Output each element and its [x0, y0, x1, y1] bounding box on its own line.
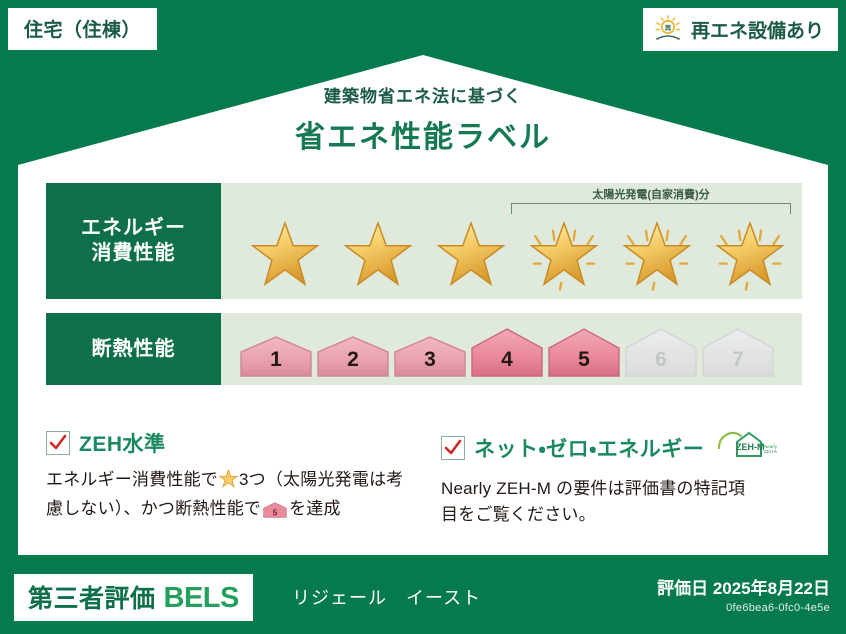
- energy-label-line1: エネルギー: [81, 216, 186, 241]
- insulation-level-number: 7: [701, 348, 775, 372]
- solar-annotation-label: 太陽光発電(自家消費)分: [511, 186, 791, 202]
- insulation-performance-content: 1 2 3: [221, 313, 802, 385]
- insulation-level-number: 5: [547, 348, 621, 372]
- energy-label-line2: 消費性能: [92, 241, 176, 266]
- net-zero-energy-description: Nearly ZEH-M の要件は評価書の特記項 目をご覧ください。: [441, 476, 814, 529]
- insulation-performance-label: 断熱性能: [46, 313, 221, 385]
- insulation-performance-row: 断熱性能: [46, 313, 802, 385]
- bels-english-text: BELS: [164, 582, 239, 615]
- insulation-level-2: 2: [316, 334, 390, 378]
- svg-text:ZEH-M: ZEH-M: [736, 442, 765, 452]
- performance-rows: エネルギー 消費性能 太陽光発電(自家消費)分: [46, 183, 802, 399]
- insulation-label-text: 断熱性能: [92, 337, 176, 362]
- star-rating: [239, 215, 796, 293]
- building-type-label: 住宅（住棟）: [24, 20, 141, 41]
- insulation-level-number: 4: [470, 348, 544, 372]
- bels-japanese-text: 第三者評価: [28, 579, 156, 615]
- inline-star-icon: [219, 469, 238, 496]
- bels-logo: 第三者評価 BELS: [14, 574, 253, 621]
- sun-icon: 再: [653, 14, 683, 44]
- star-item-solar: [611, 215, 703, 293]
- zeh-desc-part-1: エネルギー消費性能で: [46, 470, 218, 489]
- page-title: 省エネ性能ラベル: [0, 112, 846, 156]
- zeh-standard-heading: ZEH水準: [46, 428, 419, 458]
- energy-performance-label: エネルギー 消費性能: [46, 183, 221, 299]
- insulation-level-number: 1: [239, 348, 313, 372]
- svg-text:ZEH-M: ZEH-M: [764, 449, 777, 454]
- insulation-level-4: 4: [470, 326, 544, 378]
- zeh-section: ZEH水準 エネルギー消費性能で 3つ（太陽光発電は考慮しない）、かつ断熱性能で…: [46, 428, 814, 529]
- zeh-desc-part-2: 3つ（太陽光発電: [239, 470, 369, 489]
- insulation-level-number: 6: [624, 348, 698, 372]
- svg-text:5: 5: [273, 508, 278, 518]
- svg-text:再: 再: [665, 24, 672, 32]
- zeh-standard-block: ZEH水準 エネルギー消費性能で 3つ（太陽光発電は考慮しない）、かつ断熱性能で…: [46, 428, 419, 529]
- evaluation-date: 評価日 2025年8月22日: [657, 574, 830, 599]
- label-title-block: 建築物省エネ法に基づく 省エネ性能ラベル: [0, 82, 846, 156]
- net-zero-energy-block: ネット・ゼロ・エネルギー ZEH-M Nearly ZEH-M Nearly Z…: [441, 428, 814, 529]
- insulation-level-number: 3: [393, 348, 467, 372]
- inline-house-icon: 5: [263, 500, 287, 527]
- title-subtitle: 建築物省エネ法に基づく: [0, 82, 846, 107]
- solar-bracket: [511, 203, 791, 214]
- evaluation-id: 0fe6bea6-0fc0-4e5e: [657, 602, 830, 614]
- insulation-level-scale: 1 2 3: [239, 326, 775, 378]
- star-item: [332, 215, 424, 293]
- zeh-standard-title: ZEH水準: [79, 428, 166, 458]
- checkmark-icon: [441, 436, 465, 460]
- zeh-standard-description: エネルギー消費性能で 3つ（太陽光発電は考慮しない）、かつ断熱性能で 5 を達成: [46, 467, 419, 528]
- renewable-badge-label: 再エネ設備あり: [691, 16, 824, 43]
- net-zero-energy-heading: ネット・ゼロ・エネルギー ZEH-M Nearly ZEH-M: [441, 428, 814, 467]
- insulation-level-1: 1: [239, 334, 313, 378]
- insulation-level-7: 7: [701, 326, 775, 378]
- insulation-level-5: 5: [547, 326, 621, 378]
- net-zero-energy-title: ネット・ゼロ・エネルギー: [474, 433, 704, 463]
- energy-performance-content: 太陽光発電(自家消費)分: [221, 183, 802, 299]
- property-name: リジェール イースト: [292, 584, 481, 610]
- star-item-solar: [518, 215, 610, 293]
- energy-performance-row: エネルギー 消費性能 太陽光発電(自家消費)分: [46, 183, 802, 299]
- star-item: [425, 215, 517, 293]
- zeh-m-badge-icon: ZEH-M Nearly ZEH-M: [715, 428, 777, 467]
- net-zero-desc-line2: 目をご覧ください。: [441, 502, 814, 528]
- insulation-level-6: 6: [624, 326, 698, 378]
- insulation-level-number: 2: [316, 348, 390, 372]
- net-zero-desc-line1: Nearly ZEH-M の要件は評価書の特記項: [441, 476, 814, 502]
- energy-performance-label: 住宅（住棟） 再 再エネ設備あり 建築物省エネ法に基づ: [0, 0, 846, 634]
- renewable-energy-badge: 再 再エネ設備あり: [643, 8, 838, 51]
- star-item: [239, 215, 331, 293]
- label-footer: 第三者評価 BELS リジェール イースト 評価日 2025年8月22日 0fe…: [0, 562, 846, 634]
- insulation-level-3: 3: [393, 334, 467, 378]
- checkmark-icon: [46, 431, 70, 455]
- star-item-solar: [704, 215, 796, 293]
- zeh-desc-part-4: を達成: [289, 499, 341, 518]
- evaluation-info: 評価日 2025年8月22日 0fe6bea6-0fc0-4e5e: [657, 574, 830, 614]
- building-type-tag: 住宅（住棟）: [8, 8, 157, 50]
